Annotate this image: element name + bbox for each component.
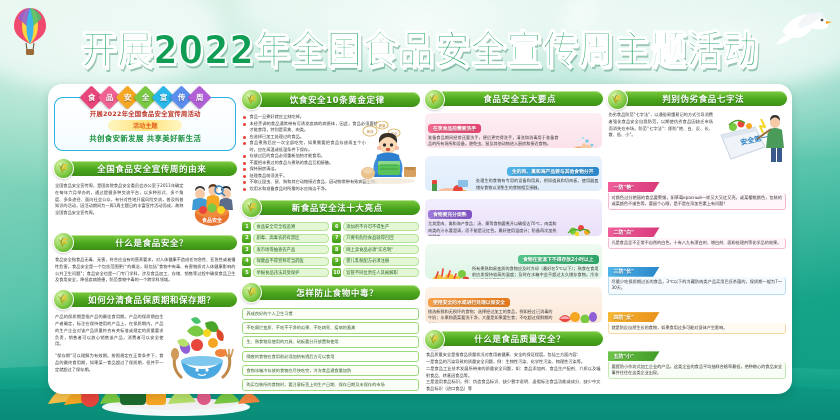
list-item: 食物冰箱冷存放的食物应尽快吃完，冷冻食品通食量加防 — [242, 365, 419, 377]
shelf-life-body-2: "保存期"可以理解为有效期。按照规定在正常条件下，食品的最终食用期，如果某一食品… — [53, 352, 165, 374]
keypoint-tag: 食物在室温下不得存放2小时以上 — [518, 255, 599, 264]
keypoint-body: 挑选新鲜和无损坏的食物；选择经过加工的食品，例如经过已消毒的牛奶；水果和蔬菜要洗… — [428, 309, 553, 323]
item-label: 举报食品违法其受保护 — [253, 268, 329, 277]
item-label: 保健品不得宣称可当药医 — [253, 257, 329, 266]
keypoint-body: 尤其是肉、禽和海产食品；汤、羹等食物要煮开以确保达70℃，肉类和肉类的汁水要澄清… — [428, 221, 557, 235]
section-header-shelf-life: 🌾 如何分清食品保质期和保存期？ — [53, 291, 237, 308]
keypoint-tag: 使用安全的水或进行处理以保安全 — [428, 298, 510, 307]
svg-text:食品安全: 食品安全 — [202, 217, 223, 224]
keypoint-separate-raw: 生的肉、禽和海产品要与其他食物分开 处理生的食物有专用的设备和用具，例如道具和切… — [425, 156, 602, 191]
seven-item-di: 六防"低" "低"是指在价格上明显低于一般的价水平的食品，价格太低的食品大多有"… — [608, 388, 787, 394]
seven-body: 要提防小作坊式加工企业的产品，这类企业的食品平均抽样合格率最低，绝种粮心的食品安… — [608, 362, 787, 379]
seven-item-bai: 二防"白" 凡是食品呈不正常不自然的白色，十有八九有漂白剂、增白剂、面粉处理剂等… — [608, 219, 787, 249]
fridge-food-icon — [428, 266, 470, 279]
keypoint-safe-water: 使用安全的水或进行处理以保安全 挑选新鲜和无损坏的食物；选择经过加工的食品，例如… — [425, 287, 602, 323]
list-item: 9婴儿乳粉配方必须注册 — [332, 257, 419, 266]
seven-item-xiao: 五防"小" 要提防小作坊式加工企业的产品，这类企业的食品平均抽样合格率最低，绝种… — [608, 343, 787, 379]
cooking-pot-icon — [559, 221, 599, 235]
leaf-icon: 🌾 — [53, 158, 74, 179]
leaf-icon: 🌾 — [53, 232, 74, 253]
food-safety-definition-body: 食品安全指食品无毒、无害，符合应当有的营养要求，对人体健康不造成任何急性、亚急性… — [53, 256, 237, 285]
theme-diamond: 周 — [187, 85, 211, 109]
seven-body: 对颜色过分艳丽的食品要警惕，如草莓красный一样又大又红又亮，或某樱桃颜色，… — [608, 193, 787, 210]
list-item: 3发市场等抽查农产品 — [242, 245, 329, 254]
content-panel: 食 品 安 全 宣 传 周 开展2022年全国食品安全宣传周活动 活动主题 共创… — [48, 84, 792, 394]
seven-item-chang: 三防"长" 尽量少吃保质期过长的食品，3℃以下的冷藏防肉类产品买用巴氏杀菌的，保… — [608, 258, 787, 294]
item-number: 8 — [332, 245, 341, 254]
highlights-column-right: 6添加剂不许可不得生产 7只要有危险食品就得召回 8网上卖食品必须"实名制" 9… — [332, 222, 419, 277]
theme-tag: 活动主题 — [108, 120, 182, 131]
section-header-prevent-poisoning: 🌾 怎样防止食物中毒？ — [241, 284, 420, 301]
leaf-icon: 🌾 — [424, 329, 445, 350]
list-item: 8网上卖食品必须"实名制" — [332, 245, 419, 254]
column-keypoints: 🌾 食品安全五大要点 在享食品前需要洗手 准备食品期间经常还要洗手，便后更完得洗… — [424, 89, 603, 394]
keypoint-wash-hands: 在享食品前需要洗手 准备食品期间经常还要洗手，便后更完得洗手，清洗和消毒用于准备… — [425, 113, 602, 148]
item-number: 6 — [332, 222, 341, 231]
item-label: 婴儿乳粉配方必须注册 — [343, 257, 419, 266]
item-label: 添加剂不许可不得生产 — [343, 222, 419, 231]
seven-tag: 五防"小" — [608, 351, 660, 361]
column-rules: 🌾 饮食安全10条黄金定律 食品一旦煮好就应立刻吃掉。 未经烹调的食品通常带有可… — [241, 89, 420, 394]
seven-body: 凡是食品呈不正常不自然的白色，十有八九有漂白剂、增白剂、面粉处理剂等化学品的效果… — [608, 238, 787, 249]
highlights-column-left: 1食品安全可全程追溯 2剧毒、高毒农药有禁区 3发市场等抽查农产品 4保健品不得… — [242, 222, 329, 277]
keypoint-room-temp: 食物在室温下不得存放2小时以上 所有煮熟和易变质的食物应及时冷却（最好在5℃以下… — [425, 244, 602, 279]
theme-diamond-row: 食 品 安 全 宣 传 周 — [55, 89, 235, 106]
item-number: 9 — [332, 257, 341, 266]
seven-item-yan: 一防"艳" 对颜色过分艳丽的食品要警惕，如草莓красный一样又大又红又亮，或… — [608, 174, 787, 210]
keypoint-body: 处理生的食物有专用的设备和用具，例如道具和切肉板，使用器皿储存食物以消免生的食物… — [476, 178, 599, 191]
leaf-icon: 🌾 — [53, 289, 74, 310]
list-item: 6添加剂不许可不得生产 — [332, 222, 419, 231]
seven-tag: 四防"反" — [608, 312, 660, 322]
item-label: 监管不同位责任人其被解职 — [343, 268, 419, 277]
seven-body: 尽量少吃保质期过长的食品，3℃以下的冷藏防肉类产品买用巴氏杀菌的，保质期一般为7… — [608, 277, 787, 294]
seven-body: 就是防反自然生长的食物，如果食用过多可能对身体产生影响。 — [608, 323, 787, 334]
item-label: 食品安全可全程追溯 — [253, 222, 329, 231]
quality-safety-body: 食品质量安全是指食品质量状况对食用者健康、安全的保证程度。包括三方面内容： 一是… — [424, 351, 603, 394]
list-item: 饮用水和准备食品时所需的水应纯洁干净。 — [243, 186, 418, 193]
item-number: 10 — [332, 268, 341, 277]
item-label: 剧毒、高毒农药有禁区 — [253, 234, 329, 243]
keypoint-cook-thoroughly: 食物要充分烧熟 尤其是肉、禽和海产食品；汤、羹等食物要煮开以确保达70℃，肉类和… — [425, 199, 602, 235]
raw-food-icon — [428, 178, 474, 191]
item-number: 1 — [242, 222, 251, 231]
food-safety-basket-icon: 安全第一 — [717, 111, 787, 167]
item-number: 4 — [242, 257, 251, 266]
list-item: 5举报食品违法其受保护 — [242, 268, 329, 277]
theme-activity-line: 开展2022年全国食品安全宣传周活动 — [60, 109, 230, 118]
section-header-ten-golden-rules: 🌾 饮食安全10条黄金定律 — [241, 91, 420, 108]
boy-eating-icon: 美味 健康 安全 — [358, 121, 420, 185]
washing-hands-icon — [561, 135, 599, 148]
poster-title-wrapper: 开展2022年全国食品安全宣传周主题活动 — [0, 22, 840, 66]
prevent-poisoning-list: 养成良好的个人卫生习惯 不吃腐烂变质、不吃不干净的瓜果、不吃病死、疫病的畜禽 生… — [241, 306, 420, 393]
list-item: 7只要有危险食品就得召回 — [332, 234, 419, 243]
column-origin: 食 品 安 全 宣 传 周 开展2022年全国食品安全宣传周活动 活动主题 共创… — [53, 89, 237, 394]
vegetable-bowl-icon — [167, 313, 237, 387]
keypoint-tag: 食物要充分烧熟 — [428, 210, 472, 219]
theme-slogan: 共创食安新发展 共享美好新生活 — [60, 133, 230, 144]
section-header-quality-safety: 🌾 什么是食品质量安全？ — [424, 331, 603, 346]
list-item: 10监管不同位责任人其被解职 — [332, 268, 419, 277]
item-label: 发市场等抽查农产品 — [253, 245, 329, 254]
origin-body: 全国食品安全宣传周，是国务院食品安全委员会办公室于2011年确定在每年六月举办的… — [53, 182, 185, 218]
svg-text:健康: 健康 — [378, 123, 386, 128]
list-item: 养成良好的个人卫生习惯 — [242, 308, 419, 320]
item-label: 网上卖食品必须"实名制" — [343, 245, 419, 254]
list-item: 2剧毒、高毒农药有禁区 — [242, 234, 329, 243]
seven-tag: 三防"长" — [608, 267, 660, 277]
seven-item-fan: 四防"反" 就是防反自然生长的食物，如果食用过多可能对身体产生影响。 — [608, 304, 787, 334]
section-header-seven-word: 🌾 判别伪劣食品七字法 — [607, 91, 788, 106]
item-number: 3 — [242, 245, 251, 254]
item-label: 只要有危险食品就得召回 — [343, 234, 419, 243]
list-item: 隔夜的食物在食用前必须加热有透后方可以食用 — [242, 351, 419, 363]
keypoint-tag: 在享食品前需要洗手 — [428, 124, 481, 133]
fruit-water-icon — [555, 309, 599, 323]
item-number: 2 — [242, 234, 251, 243]
list-item: 1食品安全可全程追溯 — [242, 222, 329, 231]
item-number: 5 — [242, 268, 251, 277]
list-item: 不吃腐烂变质、不吃不干净的瓜果、不吃病死、疫病的畜禽 — [242, 322, 419, 334]
item-number: 7 — [332, 234, 341, 243]
section-header-origin: 🌾 全国食品安全宣传周的由来 — [53, 160, 237, 177]
section-header-what-is-food-safety: 🌾 什么是食品安全？ — [53, 234, 237, 251]
section-header-five-keypoints: 🌾 食品安全五大要点 — [424, 91, 603, 106]
shelf-life-body-1: 产品的保质期是指产品的最佳食用期。产品的保质期由生产者确定，标注在保持使用的产品… — [53, 313, 165, 349]
leaf-icon: 🌾 — [607, 89, 628, 110]
column-seven-word-method: 🌾 判别伪劣食品七字法 伪劣食品防范"七字法"，以通俗易懂易记的方式引导消费者强… — [607, 89, 788, 394]
page-title: 开展2022年全国食品安全宣传周主题活动 — [81, 19, 758, 76]
keypoint-body: 准备食品期间经常还要洗手，便后更完得洗手，清洗和消毒用于准备食品的所有场所和设备… — [428, 135, 559, 148]
keypoint-body: 所有煮熟和易变质的食物应及时冷却（最好在5℃以下）；熟食在食用前应发保持较高的温… — [472, 266, 599, 279]
family-vegetables-icon: 食品安全 — [187, 182, 237, 228]
svg-text:美味: 美味 — [366, 129, 374, 134]
seven-word-intro: 伪劣食品防范"七字法"，以通俗易懂易记的方式引导消费者强化食品安全自我防范，以期… — [607, 111, 716, 167]
list-item: 4保健品不得宣称可当药医 — [242, 257, 329, 266]
list-item: 购买包装所的食物时，要注意标签上的生产日期、保存日期及未保存的市场 — [242, 379, 419, 391]
highlights-grid: 1食品安全可全程追溯 2剧毒、高毒农药有禁区 3发市场等抽查农产品 4保健品不得… — [241, 221, 420, 278]
seven-tag: 二防"白" — [608, 227, 660, 237]
seven-tag: 一防"艳" — [608, 182, 660, 192]
keypoint-tag: 生的肉、禽和海产品要与其他食物分开 — [507, 167, 599, 176]
theme-box: 食 品 安 全 宣 传 周 开展2022年全国食品安全宣传周活动 活动主题 共创… — [54, 97, 236, 151]
list-item: 生、熟食物及使用的刀具、砧板要分开放置和使用 — [242, 336, 419, 348]
leaf-icon: 🌾 — [424, 89, 445, 110]
section-header-ten-highlights: 🌾 新食品安全法十大亮点 — [241, 199, 420, 216]
